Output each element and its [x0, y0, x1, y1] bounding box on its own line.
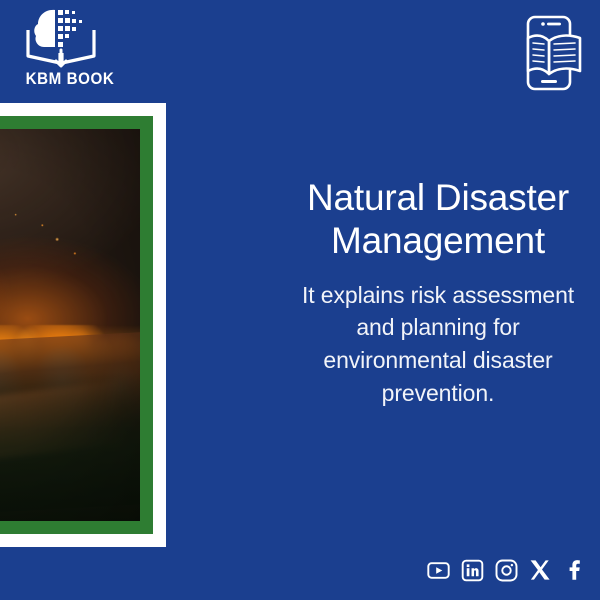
page-title: Natural Disaster Management	[288, 176, 588, 263]
social-links	[424, 556, 588, 584]
x-twitter-icon[interactable]	[526, 556, 554, 584]
photo-vignette	[0, 129, 140, 521]
wildfire-photo	[0, 129, 140, 521]
linkedin-icon[interactable]	[458, 556, 486, 584]
brand-name-label: KBM BOOK	[15, 70, 125, 89]
phone-open-book-icon	[510, 14, 588, 92]
facebook-icon[interactable]	[560, 556, 588, 584]
instagram-icon[interactable]	[492, 556, 520, 584]
brand-logo[interactable]: KBM BOOK	[10, 6, 130, 98]
page-description: It explains risk assessment and planning…	[288, 279, 588, 410]
brain-book-logo-icon	[22, 6, 102, 68]
hexagon-photo-frame	[0, 103, 166, 547]
youtube-icon[interactable]	[424, 556, 452, 584]
poster-canvas: KBM BOOK	[0, 0, 600, 600]
text-block: Natural Disaster Management It explains …	[288, 176, 588, 409]
